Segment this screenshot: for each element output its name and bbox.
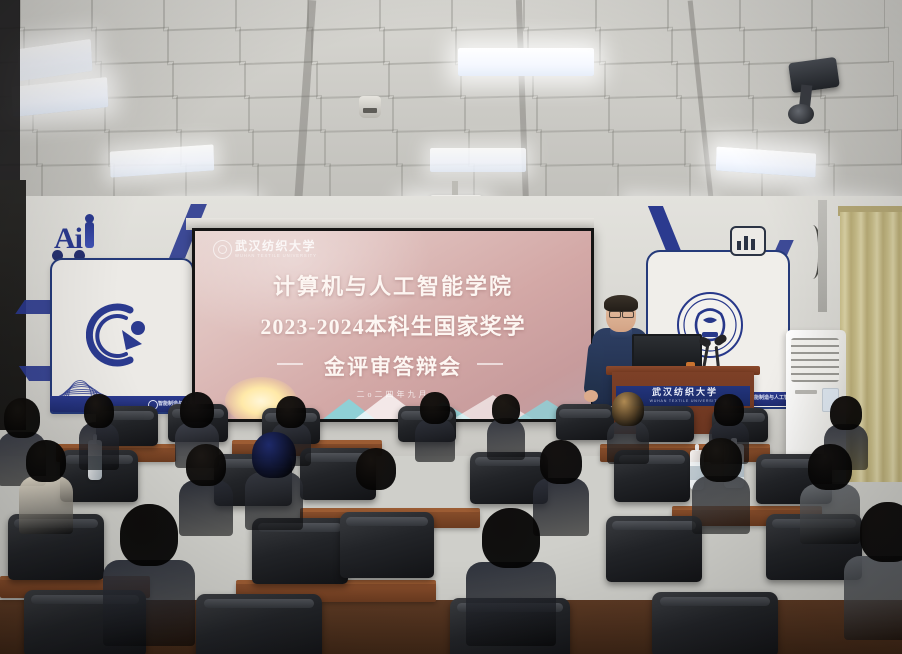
audience-member-body	[800, 484, 860, 544]
ceiling-tile	[252, 129, 326, 167]
camera-lens	[788, 104, 814, 124]
slide-title-line-2: 2023-2024本科生国家奖学	[195, 309, 591, 341]
audience-member-head	[4, 398, 40, 438]
ceiling-tile	[239, 27, 313, 66]
ceiling-tile	[392, 95, 466, 133]
projection-screen: 武汉纺织大学 WUHAN TEXTILE UNIVERSITY 计算机与人工智能…	[195, 231, 591, 419]
wall-pipe	[818, 200, 827, 312]
ceiling-tile	[167, 27, 241, 66]
logo-ring-icon	[213, 240, 232, 259]
audience-member-head	[540, 440, 582, 484]
audience-member-body	[245, 472, 303, 530]
audience-member-head	[26, 440, 66, 482]
audience-member-body	[179, 480, 233, 536]
ceiling-tile	[248, 95, 322, 133]
audience-member-body	[607, 420, 649, 464]
audience-member-body	[533, 478, 589, 536]
ceiling-tile	[680, 95, 754, 133]
ceiling-tile	[104, 95, 178, 133]
chart-bar	[744, 236, 748, 250]
ceiling-tile	[316, 61, 390, 99]
speaker-glasses-left	[609, 311, 621, 318]
air-conditioner-vents	[791, 338, 839, 382]
audience-member-head	[356, 448, 396, 490]
audience-member-head	[482, 508, 540, 568]
ceiling-tile	[828, 129, 902, 167]
ceiling-tile	[320, 95, 394, 133]
audience-member-body	[103, 560, 195, 646]
ceiling-tile	[95, 27, 169, 66]
ceiling-tile	[172, 61, 246, 99]
ceiling-tile	[100, 61, 174, 99]
ai-letter-i	[85, 222, 94, 248]
ceiling-tile	[743, 27, 817, 66]
audience-member-body	[19, 476, 73, 534]
slide-logo-chinese: 武汉纺织大学	[235, 239, 316, 253]
ceiling-light	[458, 48, 594, 76]
ai-wall-logo: Ai	[54, 220, 112, 258]
swoosh-logo-icon	[86, 300, 156, 370]
left-wall-dark-upper	[0, 0, 20, 196]
ceiling-tile	[671, 27, 745, 66]
audience-member-head	[180, 392, 214, 428]
audience-member-body	[844, 556, 902, 640]
speaker-glasses-right	[622, 311, 634, 318]
chair	[556, 404, 614, 440]
audience-member-body	[415, 418, 455, 462]
ceiling-tile	[612, 129, 686, 167]
ceiling-tile	[599, 27, 673, 66]
ceiling-tile	[676, 61, 750, 99]
audience-member-body	[466, 562, 556, 646]
ceiling-tile	[36, 129, 110, 167]
slide-logo-english: WUHAN TEXTILE UNIVERSITY	[235, 252, 317, 259]
ceiling-light	[430, 148, 526, 172]
audience-member-head	[420, 392, 450, 424]
ceiling-tile	[324, 129, 398, 167]
audience-member-head	[276, 396, 306, 428]
speaker-hair	[604, 295, 638, 312]
ceiling-tile	[383, 27, 457, 66]
smoke-detector-icon	[359, 96, 381, 118]
chair	[652, 592, 778, 654]
slide-university-logo: 武汉纺织大学 WUHAN TEXTILE UNIVERSITY	[213, 239, 321, 259]
audience-member-head	[252, 432, 296, 478]
audience-member-body	[79, 422, 119, 470]
audience-member-head	[860, 502, 902, 562]
slide-ornament-dash-right	[477, 363, 503, 365]
ceiling-tile	[388, 61, 462, 99]
ceiling-tile	[176, 95, 250, 133]
audience-member-head	[612, 392, 644, 426]
chair	[606, 516, 702, 582]
audience-member-body	[692, 476, 750, 534]
ceiling-tile	[540, 129, 614, 167]
bar-chart-icon	[730, 226, 766, 256]
ceiling-tile	[464, 95, 538, 133]
audience-member-head	[830, 396, 862, 430]
audience-member-body	[349, 484, 403, 540]
chart-bar	[751, 239, 755, 250]
audience-member-head	[808, 444, 852, 490]
ceiling-tile	[536, 95, 610, 133]
ceiling-tile	[608, 95, 682, 133]
chair	[196, 594, 322, 654]
ceiling-tile	[604, 61, 678, 99]
ceiling-tile	[311, 27, 385, 66]
audience-member-head	[714, 394, 744, 426]
slide-title-line-1: 计算机与人工智能学院	[195, 269, 591, 301]
audience-member-head	[84, 394, 114, 428]
audience-member-head	[700, 438, 742, 482]
audience-member-body	[487, 418, 525, 460]
audience-member-head	[186, 444, 226, 486]
ceiling-tile	[824, 95, 898, 133]
audience-member-head	[120, 504, 178, 566]
audience-member-head	[492, 394, 520, 424]
audience-area	[0, 392, 902, 654]
lecture-hall-photo: Ai 智能制造与人工智能 智能制造与人工智能	[0, 0, 902, 654]
chart-bar	[737, 241, 741, 250]
